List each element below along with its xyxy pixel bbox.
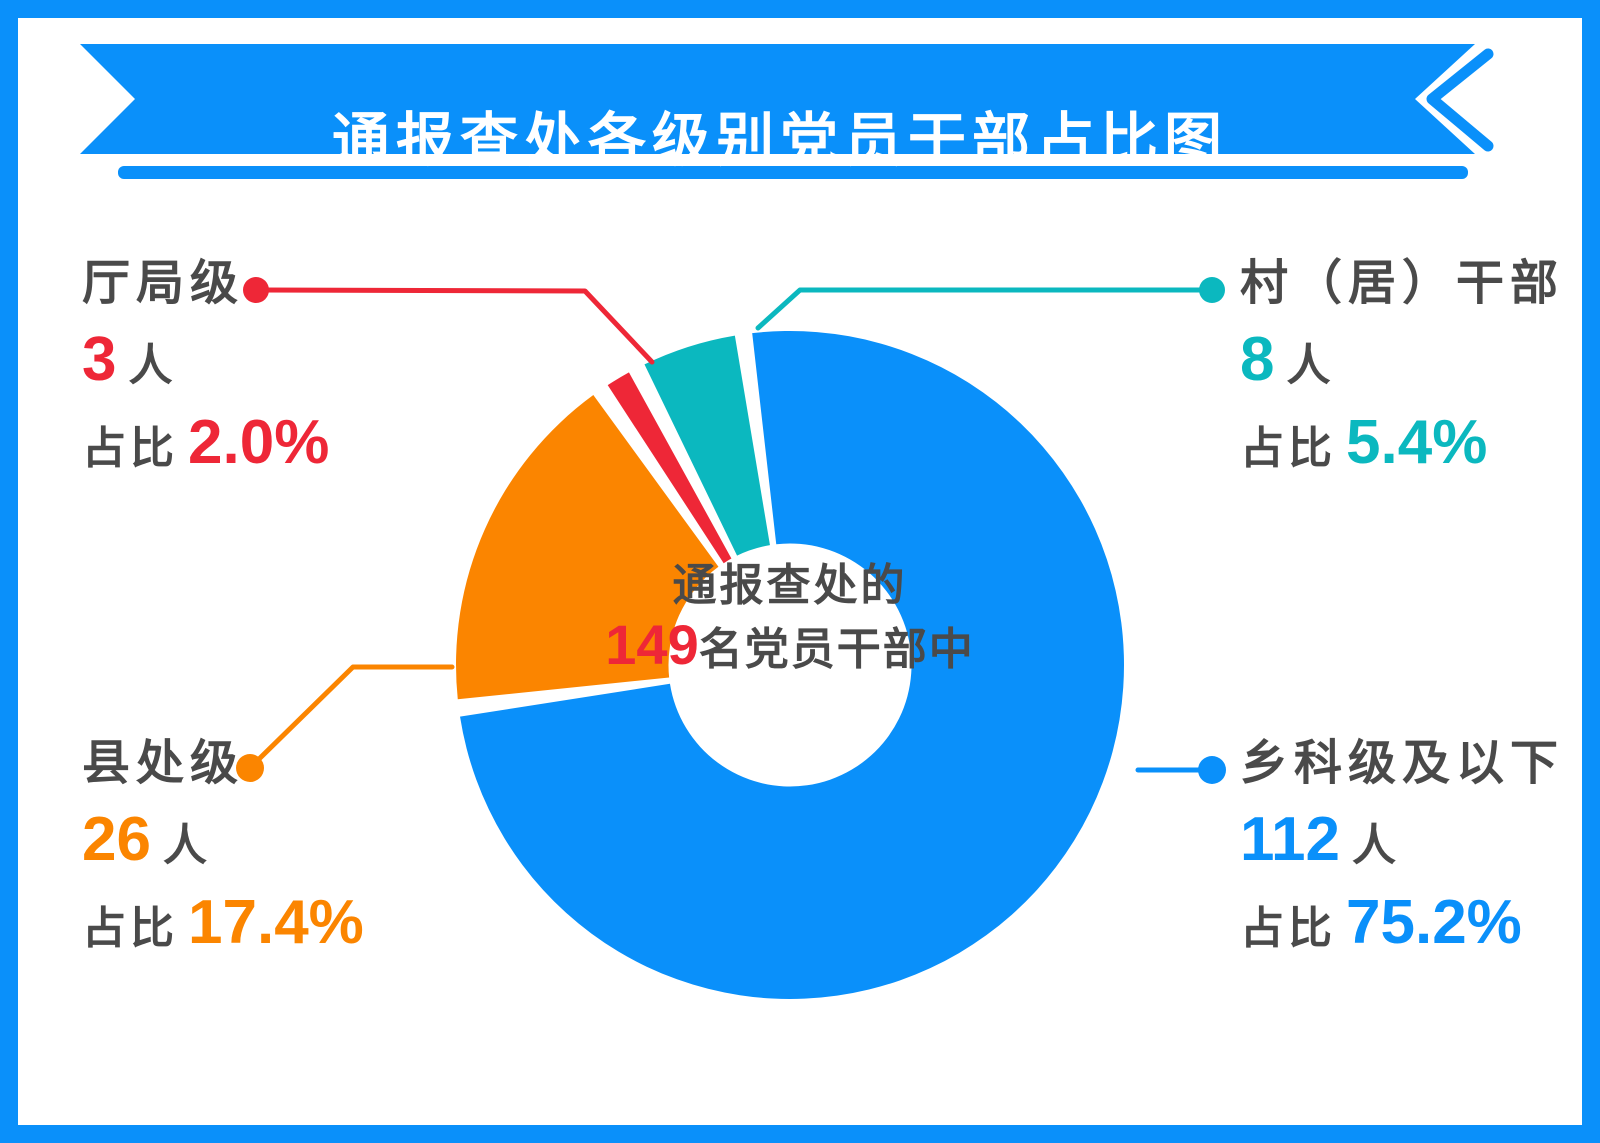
callout-tingjuji-count-row: 3人 bbox=[82, 327, 329, 392]
callout-xianchuji-unit: 人 bbox=[163, 821, 209, 870]
callout-xianchuji-count: 26 bbox=[82, 805, 151, 874]
center-line-2: 149名党员干部中 bbox=[530, 612, 1050, 678]
callout-tingjuji-pct-row: 占比2.0% bbox=[82, 410, 329, 475]
callout-cunju-count: 8 bbox=[1240, 325, 1274, 394]
callout-tingjuji-unit: 人 bbox=[128, 341, 174, 390]
callout-xiangkeji-pct-row: 占比75.2% bbox=[1240, 890, 1564, 955]
center-total-number: 149 bbox=[605, 613, 698, 676]
callout-xianchuji[interactable]: 县处级 26人 占比17.4% bbox=[82, 738, 364, 955]
title-banner: 通报查处各级别党员干部占比图 bbox=[80, 40, 1500, 190]
callout-cunju-pct-row: 占比5.4% bbox=[1240, 410, 1564, 475]
callout-tingjuji-category: 厅局级 bbox=[82, 258, 329, 311]
callout-tingjuji-pct-value: 2.0% bbox=[188, 408, 329, 477]
leader-line-xiangkeji bbox=[1138, 756, 1226, 784]
callout-xianchuji-count-row: 26人 bbox=[82, 807, 364, 872]
callout-tingjuji[interactable]: 厅局级 3人 占比2.0% bbox=[82, 258, 329, 475]
callout-xiangkeji[interactable]: 乡科级及以下 112人 占比75.2% bbox=[1240, 738, 1564, 955]
infographic-canvas: 通报查处各级别党员干部占比图 通报查处的 149名党员干部中 bbox=[0, 0, 1600, 1143]
leader-dot-cunju bbox=[1199, 277, 1225, 303]
page-title: 通报查处各级别党员干部占比图 bbox=[80, 84, 1480, 198]
callout-cunju-pct-value: 5.4% bbox=[1346, 408, 1487, 477]
callout-xiangkeji-pct-label: 占比 bbox=[1240, 904, 1336, 953]
callout-cunju-count-row: 8人 bbox=[1240, 327, 1564, 392]
callout-xiangkeji-count-row: 112人 bbox=[1240, 807, 1564, 872]
callout-tingjuji-pct-label: 占比 bbox=[82, 424, 178, 473]
callout-cunju-category: 村（居）干部 bbox=[1240, 258, 1564, 311]
center-line-1: 通报查处的 bbox=[530, 560, 1050, 612]
callout-xiangkeji-category: 乡科级及以下 bbox=[1240, 738, 1564, 791]
callout-xiangkeji-pct-value: 75.2% bbox=[1346, 888, 1522, 957]
leader-dot-xiangkeji bbox=[1198, 756, 1226, 784]
center-total-suffix: 名党员干部中 bbox=[699, 625, 975, 674]
callout-xianchuji-pct-value: 17.4% bbox=[188, 888, 364, 957]
callout-cunju[interactable]: 村（居）干部 8人 占比5.4% bbox=[1240, 258, 1564, 475]
callout-xiangkeji-unit: 人 bbox=[1352, 821, 1398, 870]
donut-center-label: 通报查处的 149名党员干部中 bbox=[530, 560, 1050, 678]
callout-xiangkeji-count: 112 bbox=[1240, 805, 1340, 874]
callout-xianchuji-pct-label: 占比 bbox=[82, 904, 178, 953]
callout-cunju-unit: 人 bbox=[1286, 341, 1332, 390]
callout-xianchuji-category: 县处级 bbox=[82, 738, 364, 791]
callout-tingjuji-count: 3 bbox=[82, 325, 116, 394]
callout-xianchuji-pct-row: 占比17.4% bbox=[82, 890, 364, 955]
callout-cunju-pct-label: 占比 bbox=[1240, 424, 1336, 473]
